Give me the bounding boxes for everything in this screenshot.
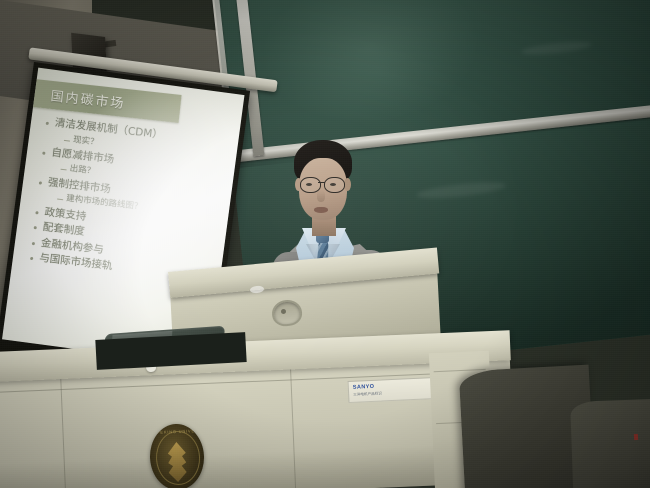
lecture-hall-photo: 国内碳市场 清洁发展机制（CDM） 现实？ 自愿减排市场 出路？ 强制控排市场 … <box>0 0 650 488</box>
foreground-chair <box>570 398 650 488</box>
eyeglasses-lens-right <box>324 177 345 193</box>
mouth <box>314 207 328 213</box>
ear-right <box>344 178 351 191</box>
university-emblem: PEKING UNIVERSITY <box>149 423 206 488</box>
sanyo-brand-text: SANYO <box>353 384 375 391</box>
cable-hole <box>281 309 286 314</box>
sanyo-sub-text: 三洋电机产品标识 <box>353 391 382 397</box>
eyeglasses-bridge <box>318 182 325 183</box>
equipment-label: SANYO 三洋电机产品标识 <box>348 377 437 403</box>
red-indicator <box>634 434 638 440</box>
slide-bullet-list: 清洁发展机制（CDM） 现实？ 自愿减排市场 出路？ 强制控排市场 建构市场的路… <box>23 116 235 289</box>
eyeglasses-lens-left <box>300 177 321 193</box>
emblem-text: PEKING UNIVERSITY <box>157 428 195 435</box>
cabinet-seam <box>434 369 486 372</box>
nose <box>317 190 325 202</box>
